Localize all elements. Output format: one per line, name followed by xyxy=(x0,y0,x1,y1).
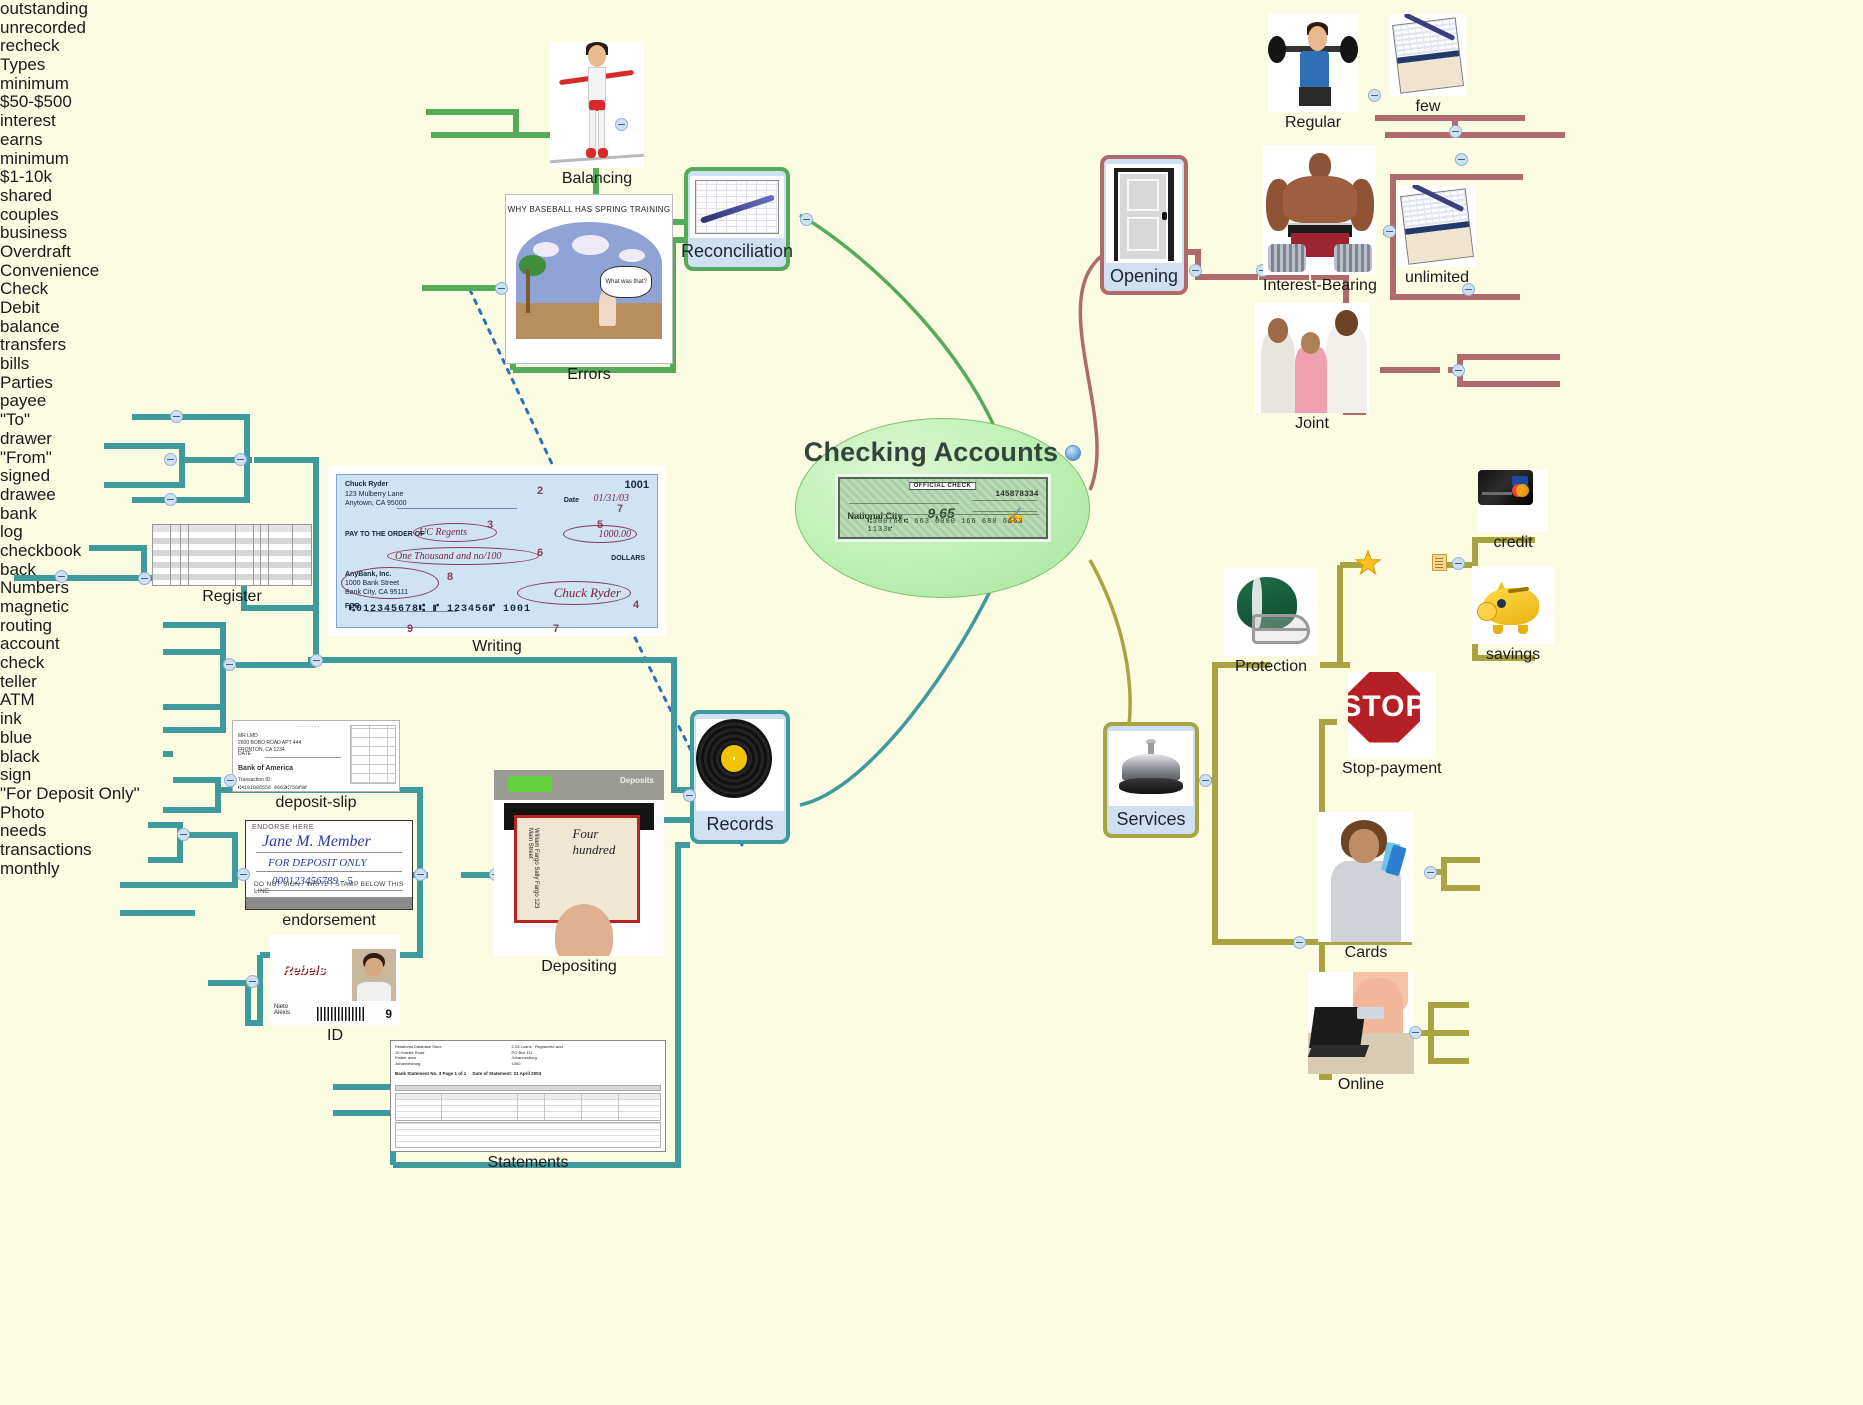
collapse-handle-overdraft[interactable] xyxy=(1452,557,1465,570)
node-label-services: Services xyxy=(1110,806,1191,834)
cartoon-title: WHY BASEBALL HAS SPRING TRAINING xyxy=(506,205,672,214)
collapse-handle-register[interactable] xyxy=(138,572,151,585)
note-icon xyxy=(1432,554,1447,571)
collapse-handle-minimum-interest[interactable] xyxy=(1462,283,1475,296)
node-statements[interactable]: Relational Database Store10 Granite Road… xyxy=(390,1040,666,1172)
piggy-bank-image xyxy=(1472,566,1554,644)
globe-icon xyxy=(1065,445,1081,461)
collapse-handle-numbers[interactable] xyxy=(223,658,236,671)
credit-card-image xyxy=(1478,470,1548,532)
star-icon xyxy=(1355,550,1381,576)
service-bell-image xyxy=(1109,731,1193,806)
node-label-atm[interactable]: ATM xyxy=(0,691,1863,710)
baseball-cartoon-image: WHY BASEBALL HAS SPRING TRAINING What wa… xyxy=(505,194,673,364)
node-label-minimum-regular-value[interactable]: $50-$500 xyxy=(0,93,1863,112)
node-label-cards: Cards xyxy=(1345,944,1388,962)
id-team: Rebels xyxy=(283,962,326,977)
stop-sign-image: STOP xyxy=(1348,672,1436,758)
node-credit[interactable]: credit xyxy=(1478,470,1548,552)
collapse-handle-payee[interactable] xyxy=(170,410,183,423)
endorse-line2: FOR DEPOSIT ONLY xyxy=(268,857,367,869)
vinyl-record-image xyxy=(696,719,784,811)
collapse-handle-balancing[interactable] xyxy=(615,118,628,131)
collapse-handle-opening[interactable] xyxy=(1189,264,1202,277)
collapse-handle-endorsement[interactable] xyxy=(237,868,250,881)
node-balancing[interactable]: Balancing xyxy=(550,42,644,188)
collapse-handle-regular[interactable] xyxy=(1368,89,1381,102)
writing-addr2: Anytown, CA 95000 xyxy=(345,500,407,507)
node-joint[interactable]: Joint xyxy=(1255,303,1369,433)
node-stop-payment[interactable]: STOP Stop-payment xyxy=(1342,672,1442,778)
node-label-routing[interactable]: routing xyxy=(0,617,1863,636)
node-label-check-card[interactable]: Check xyxy=(0,280,1863,299)
node-label-account[interactable]: account xyxy=(0,635,1863,654)
node-label-interest[interactable]: interest xyxy=(0,112,1863,131)
deposit-amount: Four hundred xyxy=(572,826,637,858)
check-register-image xyxy=(152,524,312,586)
slip-transaction: Transaction ID: xyxy=(238,777,272,783)
checkbook-image-unlimited xyxy=(1398,185,1476,267)
node-label-transfers[interactable]: transfers xyxy=(0,336,1863,355)
weightlifter-image xyxy=(1268,14,1358,112)
id-school: AB Miller xyxy=(274,937,317,948)
statement-period-bar xyxy=(395,1085,661,1091)
slip-bank: Bank of America xyxy=(238,765,293,772)
node-label-savings: savings xyxy=(1486,646,1540,664)
collapse-handle-ink[interactable] xyxy=(177,828,190,841)
node-label-deposit-slip: deposit-slip xyxy=(276,794,357,812)
node-label-parties[interactable]: Parties xyxy=(0,374,1863,393)
node-label-balance[interactable]: balance xyxy=(0,318,1863,337)
writing-name: Chuck Ryder xyxy=(345,481,388,488)
topic-opening[interactable]: Opening xyxy=(1100,155,1188,295)
node-label-balancing: Balancing xyxy=(562,170,632,188)
node-label-interest-bearing: Interest-Bearing xyxy=(1263,277,1377,295)
node-label-debit[interactable]: Debit xyxy=(0,299,1863,318)
node-depositing[interactable]: Deposits William Fargo Sally Fargo 123 M… xyxy=(494,770,664,976)
node-label-overdraft[interactable]: Overdraft xyxy=(0,243,1863,262)
node-label-payee[interactable]: payee xyxy=(0,392,1863,411)
node-label-minimum-regular[interactable]: minimum xyxy=(0,75,1863,94)
check-micr: ⑆300762⑆ 663 0000 166 680 6653 1133⑈ xyxy=(868,518,1046,534)
atm-deposit-image: Deposits William Fargo Sally Fargo 123 M… xyxy=(494,770,664,956)
writing-addr1: 123 Mulberry Lane xyxy=(345,491,403,498)
endorse-warning: DO NOT SIGN / WRITE / STAMP BELOW THIS L… xyxy=(254,881,412,895)
collapse-handle-writing[interactable] xyxy=(310,654,323,667)
collapse-handle-records[interactable] xyxy=(683,789,696,802)
node-label-unrecorded[interactable]: unrecorded xyxy=(0,19,1863,38)
endorse-signature: Jane M. Member xyxy=(262,833,371,851)
node-online[interactable]: Online xyxy=(1308,972,1414,1094)
topic-reconciliation[interactable]: Reconciliation xyxy=(684,167,790,271)
writing-date-label: Date xyxy=(564,497,579,504)
check-band-label: OFFICIAL CHECK xyxy=(909,482,977,490)
node-label-outstanding[interactable]: outstanding xyxy=(0,0,1863,19)
family-image xyxy=(1255,303,1369,413)
collapse-handle-checkbook[interactable] xyxy=(55,570,68,583)
node-savings[interactable]: savings xyxy=(1472,566,1554,664)
node-cards[interactable]: Cards xyxy=(1318,812,1414,962)
collapse-handle-needs[interactable] xyxy=(414,868,427,881)
check-number: 145878334 xyxy=(995,490,1038,499)
id-year: 2007-2008 xyxy=(363,937,396,944)
central-topic[interactable]: Checking Accounts OFFICIAL CHECK 1458783… xyxy=(795,418,1090,598)
topic-records[interactable]: Records xyxy=(690,710,790,844)
collapse-handle-online[interactable] xyxy=(1409,1026,1422,1039)
collapse-handle-shared[interactable] xyxy=(1452,364,1465,377)
endorsement-image: ENDORSE HERE Jane M. Member FOR DEPOSIT … xyxy=(245,820,413,910)
node-errors[interactable]: WHY BASEBALL HAS SPRING TRAINING What wa… xyxy=(505,194,673,384)
endorse-here-label: ENDORSE HERE xyxy=(252,824,314,831)
node-label-records: Records xyxy=(700,811,779,839)
door-image xyxy=(1106,164,1182,263)
tightrope-walker-image xyxy=(550,42,644,168)
cartoon-bubble: What was that? xyxy=(600,266,652,298)
topic-services[interactable]: Services xyxy=(1103,722,1199,838)
statement-table xyxy=(395,1093,661,1121)
central-title-row: Checking Accounts xyxy=(804,437,1081,468)
node-regular[interactable]: Regular xyxy=(1268,14,1358,132)
node-few[interactable]: few xyxy=(1390,14,1466,116)
id-name: NietoAlexis xyxy=(274,1004,290,1017)
bodybuilder-image xyxy=(1263,145,1376,275)
node-label-joint: Joint xyxy=(1295,415,1329,433)
woman-with-cards-image xyxy=(1318,812,1414,942)
node-label-opening: Opening xyxy=(1104,263,1184,291)
node-label-convenience[interactable]: Convenience xyxy=(0,262,1863,281)
deposit-machine-label: Deposits xyxy=(620,776,654,785)
statement-title: Bank Statement No. 3 Page 1 of 1 Date of… xyxy=(395,1071,541,1076)
node-writing[interactable]: Chuck Ryder 123 Mulberry Lane Anytown, C… xyxy=(328,466,666,656)
node-label-online: Online xyxy=(1338,1076,1384,1094)
collapse-handle-errors[interactable] xyxy=(495,282,508,295)
collapse-handle-convenience[interactable] xyxy=(1293,936,1306,949)
collapse-handle-parties[interactable] xyxy=(234,453,247,466)
node-label-teller[interactable]: teller xyxy=(0,673,1863,692)
writing-micr: ⑆012345678⑆ ⑈ 123456⑈ 1001 xyxy=(349,603,531,615)
node-label-id: ID xyxy=(327,1027,343,1045)
collapse-handle-reconciliation[interactable] xyxy=(800,213,813,226)
node-protection[interactable]: Protection xyxy=(1224,568,1318,676)
deposit-bank-lines: William Fargo Sally Fargo 123 Main Stree… xyxy=(527,828,539,920)
statement-head-left: Relational Database Store10 Granite Road… xyxy=(395,1044,442,1066)
central-title: Checking Accounts xyxy=(804,437,1058,468)
writing-checknum: 1001 xyxy=(625,479,649,491)
mindmap-canvas: Checking Accounts OFFICIAL CHECK 1458783… xyxy=(0,0,1863,1405)
id-number: 9 xyxy=(385,1007,392,1021)
node-label-errors: Errors xyxy=(567,366,611,384)
collapse-handle-drawee[interactable] xyxy=(164,493,177,506)
node-label-statements: Statements xyxy=(488,1154,569,1172)
node-label-business[interactable]: business xyxy=(0,224,1863,243)
node-label-bills[interactable]: bills xyxy=(0,355,1863,374)
checkbook-image-few xyxy=(1390,14,1466,96)
node-interest-bearing[interactable]: Interest-Bearing xyxy=(1263,145,1377,295)
node-label-minimum-interest[interactable]: minimum xyxy=(0,150,1863,169)
deposit-slip-image: · · · · · · · · MR LMD2600 BOBO ROAD APT… xyxy=(232,720,400,792)
collapse-handle-cards[interactable] xyxy=(1424,866,1437,879)
node-label-regular: Regular xyxy=(1285,114,1341,132)
student-id-image: AB Miller 2007-2008 Rebels NietoAlexis 9 xyxy=(270,935,400,1025)
node-label-credit: credit xyxy=(1493,534,1532,552)
collapse-handle-interest-bearing[interactable] xyxy=(1383,225,1396,238)
node-label-minimum-interest-value[interactable]: $1-10k xyxy=(0,168,1863,187)
node-unlimited[interactable]: unlimited xyxy=(1398,185,1476,287)
node-label-few: few xyxy=(1416,98,1441,116)
node-label-couples[interactable]: couples xyxy=(0,206,1863,225)
writing-date: 01/31/03 xyxy=(593,493,629,504)
node-label-endorsement: endorsement xyxy=(282,912,375,930)
node-label-check-number[interactable]: check xyxy=(0,654,1863,673)
reconciliation-image xyxy=(690,176,784,238)
node-label-shared[interactable]: shared xyxy=(0,187,1863,206)
check-writing-image: Chuck Ryder 123 Mulberry Lane Anytown, C… xyxy=(328,466,666,636)
statement-head-right: 2-04 Loans · Registered acctPO Box 111Jo… xyxy=(512,1044,563,1066)
football-helmet-image xyxy=(1224,568,1318,656)
collapse-handle-deposit-slip[interactable] xyxy=(224,774,237,787)
node-label-stop-payment: Stop-payment xyxy=(1342,760,1442,778)
node-register[interactable]: Register xyxy=(152,524,312,606)
node-id[interactable]: AB Miller 2007-2008 Rebels NietoAlexis 9… xyxy=(270,935,400,1045)
central-check-image: OFFICIAL CHECK 145878334 9,65 National C… xyxy=(838,477,1048,539)
node-deposit-slip[interactable]: · · · · · · · · MR LMD2600 BOBO ROAD APT… xyxy=(232,720,400,812)
node-label-unlimited: unlimited xyxy=(1405,269,1469,287)
node-label-recheck[interactable]: recheck xyxy=(0,37,1863,56)
collapse-handle-services[interactable] xyxy=(1199,774,1212,787)
node-label-reconciliation: Reconciliation xyxy=(675,238,799,266)
stop-sign-text: STOP xyxy=(1348,672,1420,743)
node-label-depositing: Depositing xyxy=(541,958,617,976)
collapse-handle-minimum-regular[interactable] xyxy=(1449,125,1462,138)
online-banking-image xyxy=(1308,972,1414,1074)
writing-dollars: DOLLARS xyxy=(611,555,645,562)
collapse-handle-drawer[interactable] xyxy=(164,453,177,466)
node-endorsement[interactable]: ENDORSE HERE Jane M. Member FOR DEPOSIT … xyxy=(245,820,413,930)
node-label-writing: Writing xyxy=(472,638,522,656)
collapse-handle-interest[interactable] xyxy=(1455,153,1468,166)
bank-statement-image: Relational Database Store10 Granite Road… xyxy=(390,1040,666,1152)
node-label-register: Register xyxy=(202,588,262,606)
node-label-types[interactable]: Types xyxy=(0,56,1863,75)
collapse-handle-id[interactable] xyxy=(246,975,259,988)
statement-footer xyxy=(395,1122,661,1148)
node-label-protection: Protection xyxy=(1235,658,1307,676)
node-label-earns[interactable]: earns xyxy=(0,131,1863,150)
